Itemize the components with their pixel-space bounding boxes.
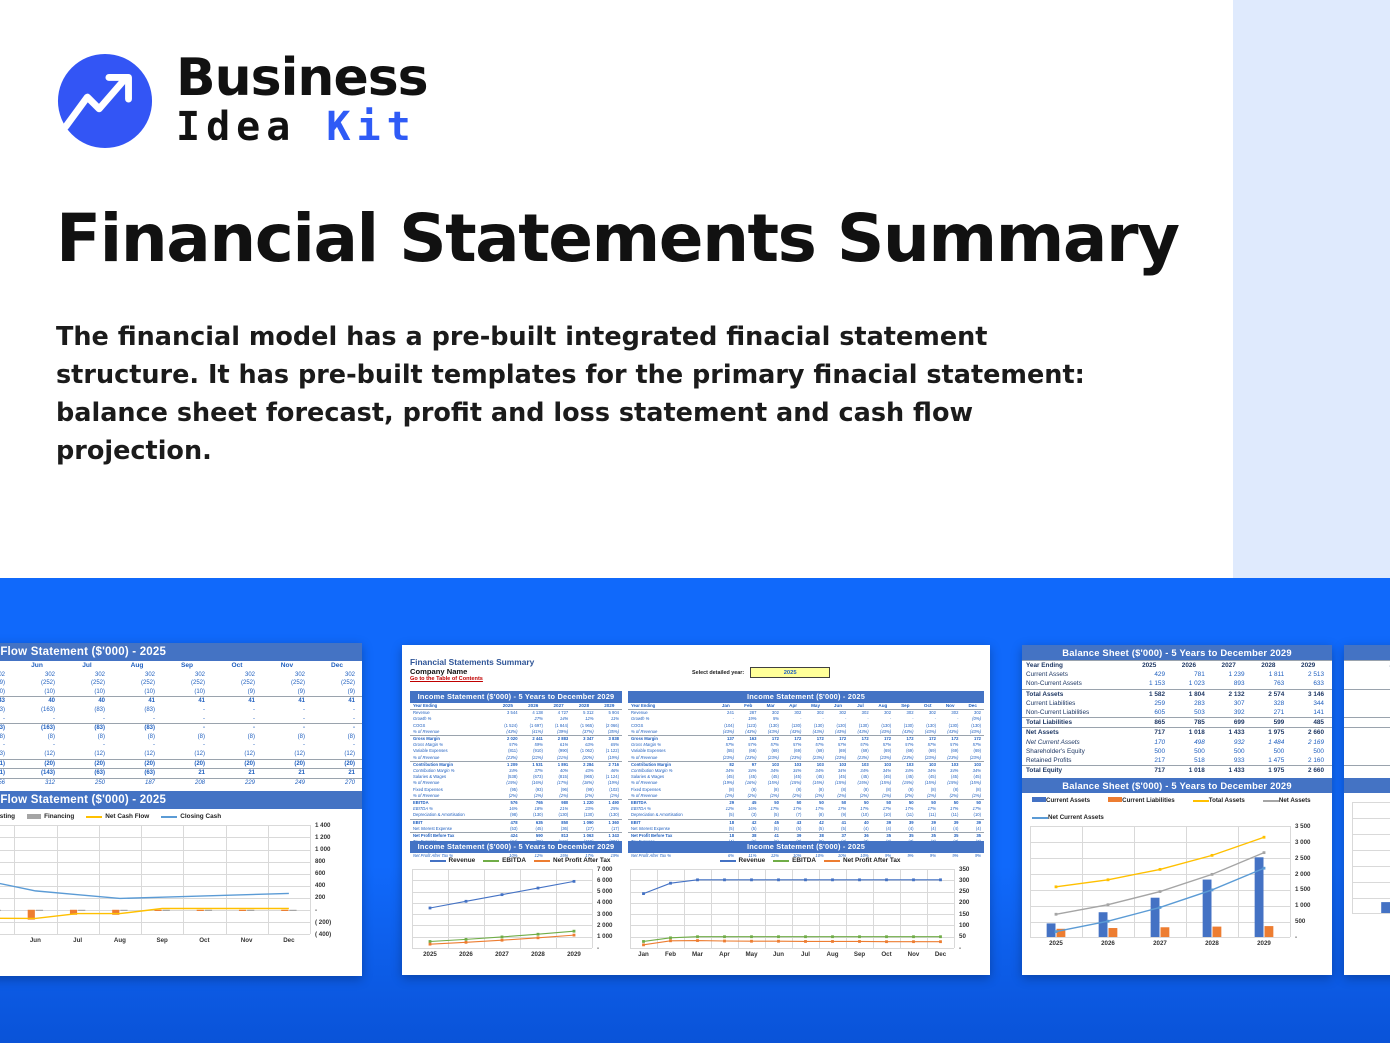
table-cell: 599 <box>1253 718 1293 728</box>
chart-series-layer <box>1350 799 1390 927</box>
table-cell: 250 <box>62 778 112 787</box>
table-cell: - <box>162 706 212 715</box>
table-cell: 5 312 <box>571 710 596 717</box>
table-cell: (36) <box>546 826 571 833</box>
chart-marker <box>750 940 753 943</box>
table-cell: Total Assets <box>1022 689 1133 699</box>
table-cell: (83) <box>112 706 162 715</box>
table-cell: (5) <box>827 826 849 833</box>
table-cell: (11) <box>939 812 961 819</box>
table-cell: 41 <box>162 697 212 706</box>
table-cell: 2 660 <box>1292 728 1332 738</box>
table-cell: (20) <box>312 759 362 769</box>
legend-label: EBITDA <box>502 857 526 864</box>
legend-item: Closing Cash <box>161 813 221 820</box>
chart-marker <box>1263 836 1266 839</box>
table-cell: (13) <box>0 750 12 759</box>
chart-marker <box>642 940 645 943</box>
table-cell: 12 <box>1344 756 1390 766</box>
table-cell: 2029 <box>1292 661 1332 671</box>
legend-line-swatch <box>824 860 840 862</box>
table-cell: (20) <box>212 759 262 769</box>
table-cell: Oct <box>917 703 939 710</box>
table-cell: 302 <box>961 710 984 717</box>
legend-item: EBITDA <box>773 857 816 864</box>
table-cell: (35%) <box>597 729 622 736</box>
table-cell: 18 <box>715 833 737 840</box>
table-cell: - <box>312 706 362 715</box>
table-cell: Current Assets <box>1022 670 1133 679</box>
table-cell: 1 433 <box>1213 728 1253 738</box>
table-cell: (163) <box>0 724 12 733</box>
table-row: Total Equity7171 0181 4331 9752 660 <box>1022 766 1332 776</box>
chart-series-layer <box>628 866 980 962</box>
table-row: 1 297 <box>1344 689 1390 699</box>
table-row: 4340404141414141 <box>0 697 362 706</box>
table-cell: 478 <box>495 819 520 826</box>
table-cell: (2%) <box>597 793 622 800</box>
table-row: % of Revenue(2%)(2%)(2%)(2%)(2%)(2%)(2%)… <box>628 793 984 800</box>
table-cell: 1 018 <box>1173 728 1213 738</box>
table-cell: (43%) <box>827 729 849 736</box>
table-cell: Non-Current Assets <box>1022 679 1133 689</box>
table-cell: (12) <box>112 750 162 759</box>
legend-label: Net Cash Flow <box>105 813 149 820</box>
table-row: Depreciation & Amortisation(98)(130)(130… <box>410 812 622 819</box>
brand-word-kit: Kit <box>326 104 416 150</box>
legend-line-swatch <box>1193 800 1209 802</box>
chart-marker <box>723 878 726 881</box>
legend-item: EBITDA <box>483 857 526 864</box>
table-cell: 41 <box>827 819 849 826</box>
legend-label: Closing Cash <box>180 813 221 820</box>
table-cell: 287 <box>737 710 759 717</box>
table-cell: (2%) <box>872 793 894 800</box>
chart-marker <box>912 940 915 943</box>
chart-marker <box>1211 873 1214 876</box>
table-cell: - <box>262 741 312 750</box>
table-cell: 41 <box>759 833 781 840</box>
chart-marker <box>465 900 468 903</box>
chart-marker <box>1211 889 1214 892</box>
table-row: EBITDA294550505050505050505050 <box>628 800 984 807</box>
table-cell: 590 <box>521 833 546 840</box>
chart-marker <box>669 939 672 942</box>
table-cell: 2 169 <box>1292 738 1332 747</box>
table-cell: 1 360 <box>597 819 622 826</box>
table-cell: 50 <box>961 800 984 807</box>
table-cell: (252) <box>212 679 262 688</box>
table-cell: (2%) <box>759 793 781 800</box>
income-monthly-table-title: Income Statement ($'000) - 2025 <box>628 691 984 703</box>
chart-marker <box>669 882 672 885</box>
table-cell: % of Revenue <box>410 729 495 736</box>
table-cell: (43%) <box>737 729 759 736</box>
table-row: MayJunJulAugSepOctNovDec <box>0 662 362 671</box>
table-cell: (8) <box>162 733 212 742</box>
table-row: Net Interest Expense(53)(45)(36)(27)(17) <box>410 826 622 833</box>
table-row: % of Revenue(23%)(23%)(23%)(23%)(23%)(23… <box>628 755 984 762</box>
table-cell: 39 <box>939 819 961 826</box>
legend-label: Current Assets <box>1046 797 1090 804</box>
income-screenshot-card[interactable]: Financial Statements Summary Company Nam… <box>402 645 990 975</box>
table-cell: 512 <box>1344 728 1390 738</box>
chart-marker <box>831 878 834 881</box>
legend-line-swatch <box>534 860 550 862</box>
chart-marker <box>885 940 888 943</box>
table-cell: 103 <box>872 761 894 768</box>
table-cell: (143) <box>12 769 62 779</box>
legend-label: Net Profit After Tax <box>843 857 901 864</box>
table-cell: (2%) <box>521 793 546 800</box>
table-cell: Net Interest Expense <box>410 826 495 833</box>
chart-marker <box>750 935 753 938</box>
table-row: (13)(12)(12)(12)(12)(12)(12)(12) <box>0 750 362 759</box>
table-cell: (130) <box>571 812 596 819</box>
table-cell: (8) <box>62 733 112 742</box>
table-cell: (12) <box>62 750 112 759</box>
table-cell: (5) <box>782 826 804 833</box>
legend-line-swatch <box>483 860 499 862</box>
table-cell: Apr <box>782 703 804 710</box>
chart-bar <box>1265 927 1274 938</box>
balance-monthly-screenshot-card[interactable]: Jan1 1741241 297936927865121 08150012512… <box>1344 645 1390 975</box>
table-cell: 36 <box>849 833 871 840</box>
table-cell: Depreciation & Amortisation <box>628 812 715 819</box>
cashflow-table: MayJunJulAugSepOctNovDec3023023023023023… <box>0 662 362 787</box>
table-row: % of Revenue(43%)(43%)(43%)(43%)(43%)(43… <box>628 729 984 736</box>
table-cell: - <box>262 724 312 733</box>
table-cell: 41 <box>212 697 262 706</box>
table-cell: 2 513 <box>1292 670 1332 679</box>
table-cell: 932 <box>1213 738 1253 747</box>
income-5y-table-title: Income Statement ($'000) - 5 Years to De… <box>410 691 622 703</box>
table-row: (249)(252)(252)(252)(252)(252)(252)(252) <box>0 679 362 688</box>
table-cell: Jan <box>1344 661 1390 671</box>
table-cell: 1 582 <box>1133 689 1173 699</box>
table-row: 786 <box>1344 718 1390 728</box>
table-cell: Aug <box>112 662 162 671</box>
table-cell: - <box>0 741 12 750</box>
table-cell: - <box>212 724 262 733</box>
table-cell: Current Liabilities <box>1022 699 1133 708</box>
table-cell: 302 <box>162 671 212 680</box>
table-cell: 103 <box>849 761 871 768</box>
chart-bar <box>1381 903 1390 914</box>
table-cell: (23%) <box>804 755 826 762</box>
table-cell: 103 <box>961 761 984 768</box>
table-cell: 163 <box>737 736 759 743</box>
table-cell: (141) <box>0 769 12 779</box>
table-cell: - <box>212 741 262 750</box>
table-cell: 3 146 <box>1292 689 1332 699</box>
table-cell: 1 063 <box>571 833 596 840</box>
table-cell: (9) <box>262 688 312 697</box>
table-cell: 2026 <box>521 703 546 710</box>
table-row: % of Revenue(23%)(22%)(21%)(20%)(19%) <box>410 755 622 762</box>
chart-bar <box>163 910 170 911</box>
table-cell: 2 284 <box>571 761 596 768</box>
table-row: 1 081 <box>1344 738 1390 747</box>
balance-monthly-chart-plot: 3 5003 0002 5002 0001 5001 000500-Jan <box>1350 799 1390 927</box>
chart-bar <box>1213 927 1222 937</box>
table-cell: (21) <box>0 759 12 769</box>
table-cell: % of Revenue <box>410 755 495 762</box>
table-cell: % of Revenue <box>628 793 715 800</box>
table-cell: 392 <box>1213 708 1253 718</box>
table-cell: 270 <box>312 778 362 787</box>
table-row: Gross Margin2 0202 4412 8833 3473 838 <box>410 736 622 743</box>
table-cell: (2%) <box>849 793 871 800</box>
table-row: Year EndingJanFebMarAprMayJunJulAugSepOc… <box>628 703 984 710</box>
table-cell: 35 <box>939 833 961 840</box>
year-selector-label: Select detailed year: <box>692 670 744 676</box>
table-cell: (252) <box>112 679 162 688</box>
table-cell: Revenue <box>628 710 715 717</box>
table-row: Non-Current Assets1 1531 023893763633 <box>1022 679 1332 689</box>
legend-bar-swatch <box>1032 797 1046 802</box>
table-cell: (2%) <box>782 793 804 800</box>
table-cell: 170 <box>1133 738 1173 747</box>
table-cell: 50 <box>804 800 826 807</box>
table-cell: 241 <box>715 710 737 717</box>
table-cell: 302 <box>939 710 961 717</box>
table-cell: % of Revenue <box>628 729 715 736</box>
table-cell: 692 <box>1344 708 1390 718</box>
table-cell: Jan <box>715 703 737 710</box>
table-cell: - <box>62 715 112 724</box>
table-cell: 500 <box>1173 747 1213 756</box>
legend-item: Financing <box>27 813 74 820</box>
table-cell: (8) <box>262 733 312 742</box>
table-cell: 41 <box>262 697 312 706</box>
table-cell: (10) <box>12 688 62 697</box>
table-row: 124 <box>1344 679 1390 689</box>
chart-marker <box>1055 886 1058 889</box>
table-row: 500 <box>1344 747 1390 756</box>
income-5y-chart-title: Income Statement ($'000) - 5 Years to De… <box>410 841 622 853</box>
chart-bar <box>1203 880 1212 937</box>
chart-marker <box>1263 852 1266 855</box>
table-cell: (3) <box>737 812 759 819</box>
legend-bar-swatch <box>27 814 41 819</box>
chart-marker <box>804 878 807 881</box>
table-cell: 103 <box>939 761 961 768</box>
table-row: Year Ending20252026202720282029 <box>1022 661 1332 671</box>
chart-marker <box>573 934 576 937</box>
table-cell: 21 <box>312 769 362 779</box>
table-cell: 518 <box>1173 756 1213 766</box>
chart-marker <box>804 940 807 943</box>
table-row: EBIT4786358501 0901 360 <box>410 819 622 826</box>
table-cell: (4) <box>917 826 939 833</box>
table-cell: (83) <box>112 724 162 733</box>
table-cell: 424 <box>495 833 520 840</box>
table-cell: (2%) <box>939 793 961 800</box>
table-row: Gross Margin1371631721721721721721721721… <box>628 736 984 743</box>
table-cell: (12) <box>212 750 262 759</box>
chart-marker <box>1159 906 1162 909</box>
table-cell: (252) <box>262 679 312 688</box>
chart-marker <box>465 938 468 941</box>
chart-marker <box>750 878 753 881</box>
legend-line-swatch <box>86 816 102 818</box>
table-cell: 699 <box>1213 718 1253 728</box>
table-cell: 172 <box>961 736 984 743</box>
table-cell: 302 <box>872 710 894 717</box>
legend-item: Net Profit After Tax <box>534 857 611 864</box>
table-cell: (10) <box>872 812 894 819</box>
table-cell: (4) <box>894 826 916 833</box>
table-cell: (163) <box>0 706 12 715</box>
cashflow-chart-legend: InvestingFinancingNet Cash FlowClosing C… <box>0 809 362 822</box>
table-cell: 485 <box>1292 718 1332 728</box>
table-cell: (249) <box>0 679 12 688</box>
table-cell: 103 <box>759 761 781 768</box>
legend-label: Current Liabilities <box>1122 797 1175 804</box>
table-cell: 1 343 <box>597 833 622 840</box>
table-cell: 259 <box>1133 699 1173 708</box>
hero-section: Business Idea Kit Financial Statements S… <box>0 0 1390 578</box>
legend-label: Net Current Assets <box>1048 814 1104 821</box>
legend-label: Total Assets <box>1209 797 1245 804</box>
table-cell: Jul <box>849 703 871 710</box>
table-cell: (252) <box>312 679 362 688</box>
table-cell: Net Interest Expense <box>628 826 715 833</box>
table-cell: (5) <box>715 826 737 833</box>
table-cell: Total Liabilities <box>1022 718 1133 728</box>
table-row: Revenue241287302302302302302302302302302… <box>628 710 984 717</box>
table-cell: 41 <box>312 697 362 706</box>
table-cell: 4 727 <box>546 710 571 717</box>
brand-word-idea: Idea <box>176 104 296 150</box>
table-cell: 41 <box>112 697 162 706</box>
chart-marker <box>858 935 861 938</box>
chart-bar <box>1047 924 1056 938</box>
chart-marker <box>1107 904 1110 907</box>
table-cell: 50 <box>759 800 781 807</box>
right-tint-panel <box>1233 0 1390 578</box>
table-cell: (8) <box>0 733 12 742</box>
page-description: The financial model has a pre-built inte… <box>56 318 1096 470</box>
table-cell: 2026 <box>1173 661 1213 671</box>
table-cell: (39%) <box>546 729 571 736</box>
table-cell: (11) <box>917 812 939 819</box>
year-selector-input[interactable]: 2025 <box>750 667 830 678</box>
table-cell: 40 <box>12 697 62 706</box>
table-cell: 765 <box>521 800 546 807</box>
chart-marker <box>696 878 699 881</box>
table-cell: 512 <box>1344 766 1390 776</box>
table-cell: 302 <box>804 710 826 717</box>
balance-monthly-table-title <box>1344 645 1390 660</box>
table-cell: (4) <box>872 826 894 833</box>
chart-marker <box>429 940 432 943</box>
table-cell: 302 <box>262 671 312 680</box>
table-cell: 93 <box>1344 699 1390 708</box>
table-cell: Dec <box>961 703 984 710</box>
table-cell: (10) <box>62 688 112 697</box>
table-cell: 344 <box>1292 699 1332 708</box>
table-row: EBITDA5767659801 2201 490 <box>410 800 622 807</box>
legend-line-swatch <box>161 816 177 818</box>
table-cell: 302 <box>827 710 849 717</box>
table-cell: - <box>312 715 362 724</box>
table-cell: 302 <box>849 710 871 717</box>
chart-marker <box>1055 913 1058 916</box>
chart-marker <box>1159 891 1162 894</box>
table-cell: (10) <box>112 688 162 697</box>
table-cell: 635 <box>521 819 546 826</box>
chart-line <box>644 941 941 945</box>
table-cell: (19%) <box>597 755 622 762</box>
chart-marker <box>642 892 645 895</box>
chart-series-layer <box>0 822 350 948</box>
table-cell: 172 <box>827 736 849 743</box>
table-cell: - <box>12 741 62 750</box>
table-cell: 302 <box>312 671 362 680</box>
chart-marker <box>1211 854 1214 857</box>
table-cell: 717 <box>1133 766 1173 776</box>
chart-marker <box>1263 867 1266 870</box>
table-cell: 3 347 <box>571 736 596 743</box>
table-cell: Mar <box>759 703 781 710</box>
table-cell: 781 <box>1173 670 1213 679</box>
balance-screenshot-card[interactable]: Balance Sheet ($'000) - 5 Years to Decem… <box>1022 645 1332 975</box>
chart-marker <box>429 943 432 946</box>
legend-line-swatch <box>720 860 736 862</box>
table-cell: (163) <box>12 724 62 733</box>
table-cell: 307 <box>1213 699 1253 708</box>
brand-logo: Business Idea Kit <box>56 52 428 150</box>
table-cell: (43%) <box>782 729 804 736</box>
table-cell: 1 490 <box>597 800 622 807</box>
cashflow-screenshot-card[interactable]: Cash Flow Statement ($'000) - 2025 MayJu… <box>0 643 362 976</box>
legend-item: Net Cash Flow <box>86 813 149 820</box>
table-cell: 456 <box>0 778 12 787</box>
table-row: (10)(10)(10)(10)(10)(9)(9)(9) <box>0 688 362 697</box>
income-monthly-chart-title: Income Statement ($'000) - 2025 <box>628 841 984 853</box>
table-cell: EBIT <box>410 819 495 826</box>
table-of-contents-link[interactable]: Go to the Table of Contents <box>410 676 534 682</box>
legend-label: Financing <box>44 813 74 820</box>
table-cell: 2 160 <box>1292 756 1332 766</box>
table-cell: - <box>212 715 262 724</box>
table-cell: EBIT <box>628 819 715 826</box>
legend-line-swatch <box>430 860 446 862</box>
table-cell: 302 <box>894 710 916 717</box>
table-cell: (23%) <box>759 755 781 762</box>
table-cell: Non-Current Liabilities <box>1022 708 1133 718</box>
table-cell: (43%) <box>961 729 984 736</box>
chart-marker <box>723 940 726 943</box>
table-cell: (43%) <box>715 729 737 736</box>
table-row: 12 <box>1344 756 1390 766</box>
table-row: Contribution Margin829710310310310310310… <box>628 761 984 768</box>
table-cell: (8) <box>212 733 262 742</box>
table-cell: 50 <box>782 800 804 807</box>
table-cell: Net Assets <box>1022 728 1133 738</box>
table-cell: (11) <box>894 812 916 819</box>
chart-marker <box>777 878 780 881</box>
table-cell: 39 <box>894 819 916 826</box>
table-cell: (2%) <box>495 793 520 800</box>
table-cell: 865 <box>1133 718 1173 728</box>
chart-marker <box>1107 920 1110 923</box>
table-cell: Revenue <box>410 710 495 717</box>
table-cell: 2028 <box>1253 661 1293 671</box>
table-cell: - <box>112 741 162 750</box>
